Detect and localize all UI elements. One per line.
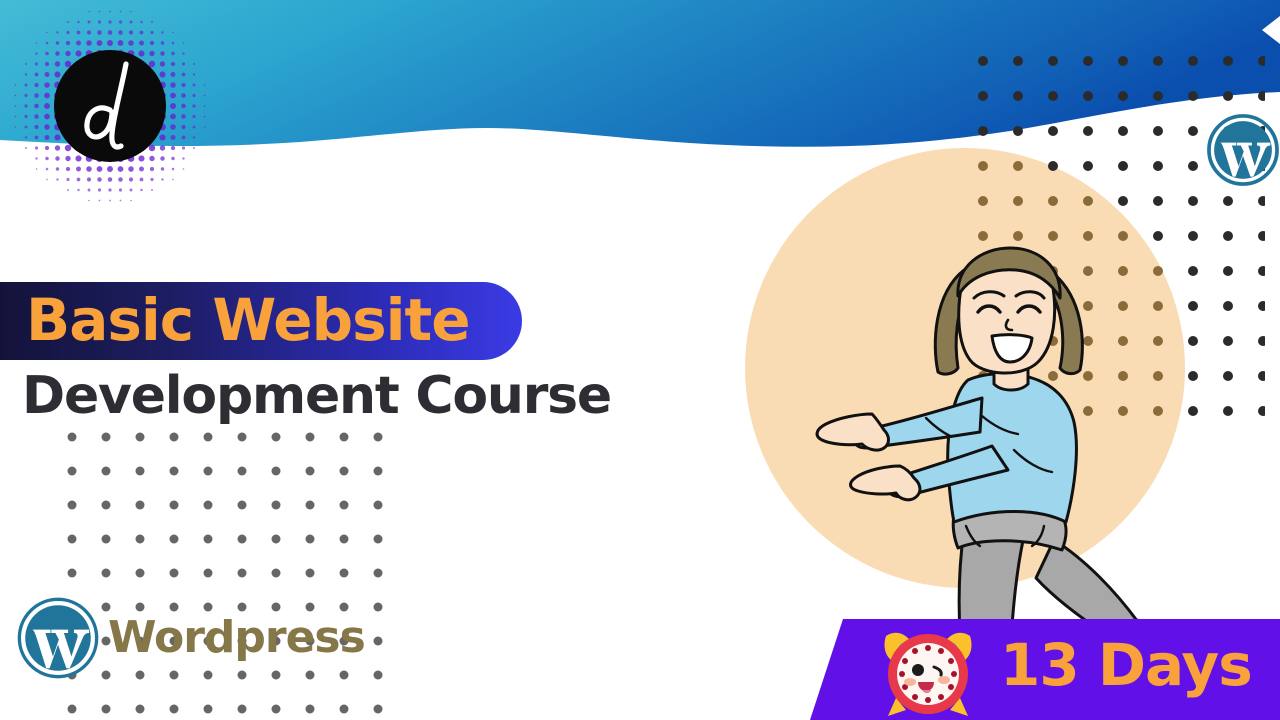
platform-label: Wordpress <box>108 612 365 664</box>
alarm-clock-icon <box>872 614 984 720</box>
woman-pointing-illustration <box>786 230 1216 660</box>
title-pill: Basic Website <box>0 282 522 360</box>
duration-label: 13 Days <box>1000 630 1252 700</box>
title-line-1: Basic Website <box>26 287 470 353</box>
wordpress-icon[interactable] <box>16 596 100 680</box>
wordpress-icon[interactable] <box>1206 113 1280 187</box>
brand-monogram-logo[interactable] <box>8 6 208 206</box>
wordpress-lockup: Wordpress <box>16 596 365 680</box>
poster-canvas: Basic Website Development Course Wordpre… <box>0 0 1280 720</box>
title-line-2: Development Course <box>0 366 760 426</box>
headline-block: Basic Website Development Course <box>0 282 760 426</box>
